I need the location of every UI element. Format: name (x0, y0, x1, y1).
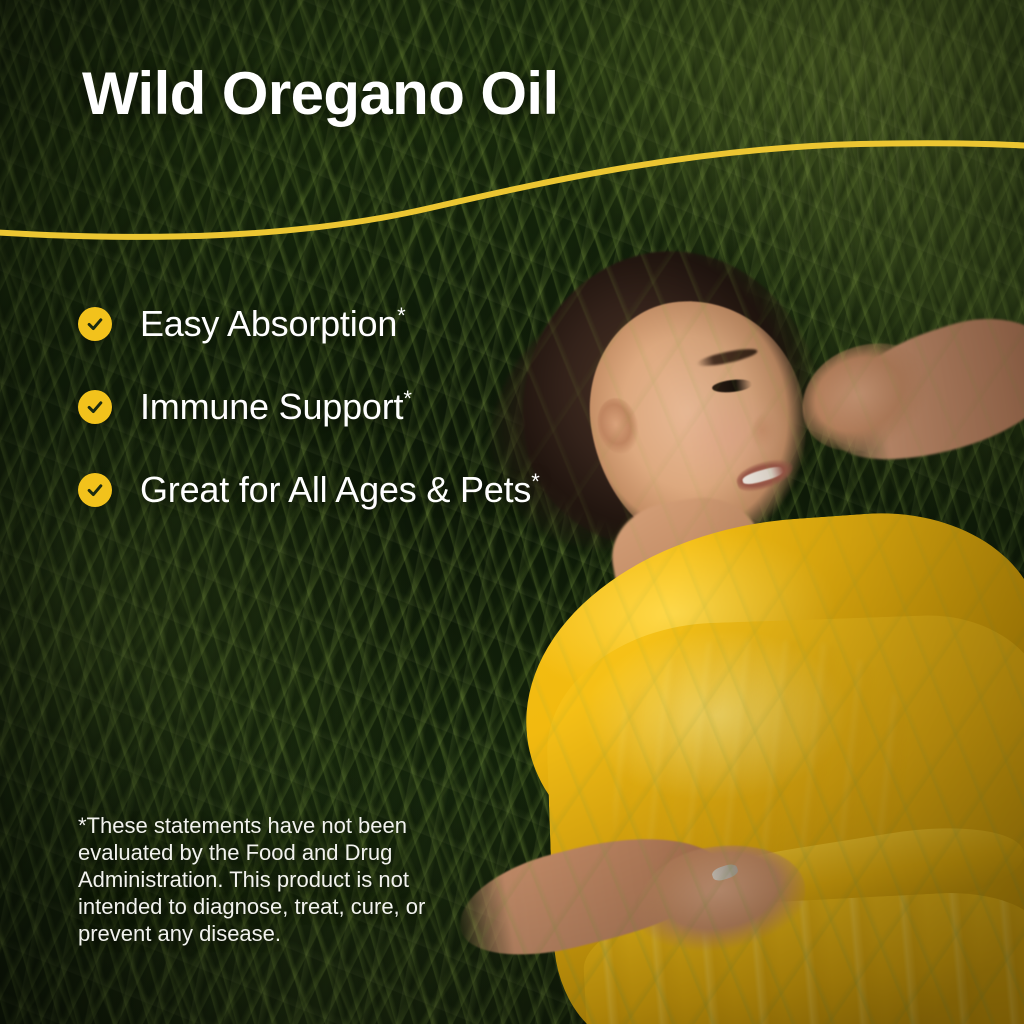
benefits-list: Easy Absorption* Immune Support* Great f… (78, 307, 540, 556)
footnote-marker: * (531, 469, 539, 494)
list-item: Easy Absorption* (78, 307, 540, 341)
benefit-label: Great for All Ages & Pets* (140, 469, 540, 511)
wave-divider-icon (0, 120, 1024, 260)
page-title: Wild Oregano Oil (82, 62, 559, 125)
footnote-marker: * (403, 386, 411, 411)
benefit-text: Easy Absorption (140, 303, 397, 344)
check-icon (78, 307, 112, 341)
check-icon (78, 473, 112, 507)
product-banner: Wild Oregano Oil Easy Absorption* Immune… (0, 0, 1024, 1024)
benefit-text: Great for All Ages & Pets (140, 469, 531, 510)
check-icon (78, 390, 112, 424)
benefit-text: Immune Support (140, 386, 403, 427)
list-item: Great for All Ages & Pets* (78, 473, 540, 507)
disclaimer-text: *These statements have not been evaluate… (78, 812, 478, 947)
footnote-marker: * (397, 303, 405, 328)
list-item: Immune Support* (78, 390, 540, 424)
benefit-label: Immune Support* (140, 386, 412, 428)
benefit-label: Easy Absorption* (140, 303, 406, 345)
